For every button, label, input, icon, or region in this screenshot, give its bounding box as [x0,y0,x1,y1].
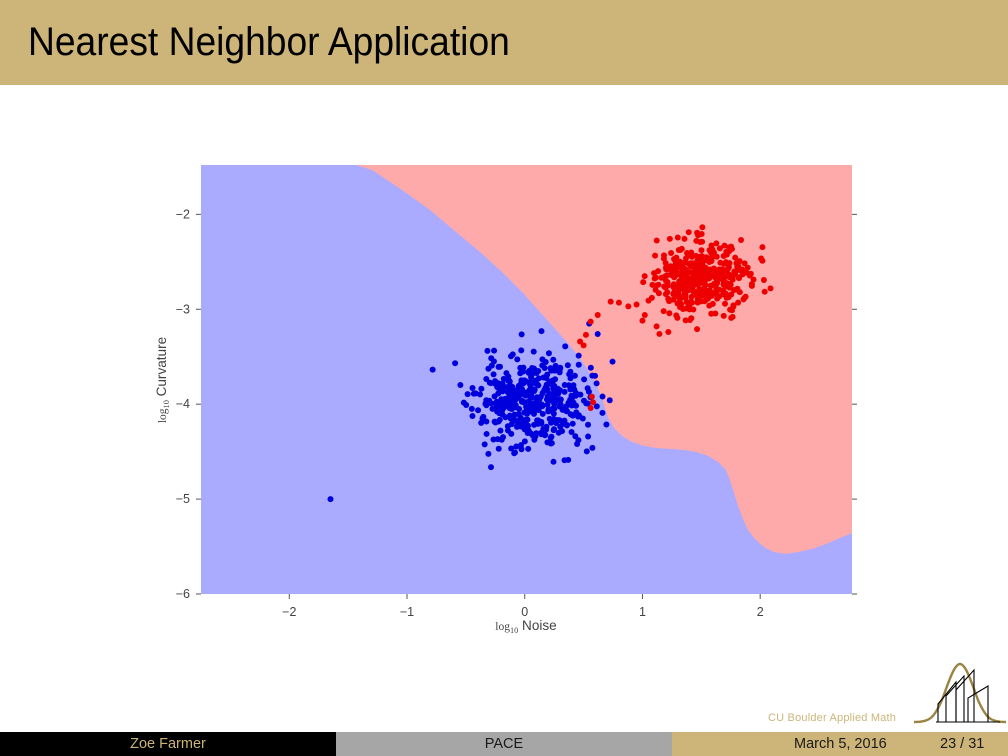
data-point [488,355,494,361]
slide-root: Nearest Neighbor Application −2−1012 [0,0,1008,756]
data-point [457,382,463,388]
data-point [761,277,767,283]
data-point [569,429,575,435]
data-point [565,362,571,368]
data-point [530,409,536,415]
data-point [666,298,672,304]
data-point [536,396,542,402]
footer-author: Zoe Farmer [0,732,336,756]
data-point [603,421,609,427]
x-axis-label: log10 Noise [495,618,556,635]
data-point [482,441,488,447]
data-point [712,311,718,317]
data-point [551,426,557,432]
data-point [684,299,690,305]
data-point [595,331,601,337]
data-point [514,356,520,362]
data-point [471,391,477,397]
data-point [706,275,712,281]
data-point [566,382,572,388]
x-tick-label: 1 [639,605,646,619]
data-point [683,276,689,282]
data-point [565,457,571,463]
data-point [576,353,582,359]
data-point [531,422,537,428]
data-point [699,231,705,237]
data-point [585,422,591,428]
y-tick-label: −2 [176,207,190,221]
data-point [557,404,563,410]
data-point [749,281,755,287]
data-point [583,332,589,338]
data-point [485,366,491,372]
data-point [707,291,713,297]
data-point [485,451,491,457]
data-point [463,402,469,408]
slide-footer: Zoe Farmer PACE March 5, 2016 23 / 31 [0,732,1008,756]
data-point [585,434,591,440]
data-point [762,289,768,295]
data-point [651,270,657,276]
data-point [469,413,475,419]
data-point [759,244,765,250]
data-point [687,306,693,312]
data-point [699,224,705,230]
data-point [550,406,556,412]
data-point [540,411,546,417]
data-point [518,347,524,353]
data-point [727,285,733,291]
data-point [686,229,692,235]
data-point [518,390,524,396]
x-axis-ticks [289,594,760,599]
data-point [653,283,659,289]
footer-right-section: March 5, 2016 23 / 31 [672,732,1008,756]
data-point [733,260,739,266]
data-point [683,271,689,277]
data-point [639,318,645,324]
data-point [652,253,658,259]
data-point [654,323,660,329]
data-point [697,239,703,245]
data-point [713,283,719,289]
data-point [727,274,733,280]
data-point [569,403,575,409]
data-point [568,375,574,381]
data-point [693,292,699,298]
data-point [488,464,494,470]
data-point [505,428,511,434]
footer-page-number: 23 / 31 [940,732,984,756]
data-point [661,308,667,314]
data-point [699,260,705,266]
data-point [500,434,506,440]
data-point [496,446,502,452]
data-point [513,443,519,449]
data-point [570,413,576,419]
data-point [549,440,555,446]
data-point [492,393,498,399]
data-point [673,255,679,261]
data-point [594,380,600,386]
data-point [642,312,648,318]
data-point [671,289,677,295]
data-point [712,271,718,277]
data-point [581,376,587,382]
data-point [491,348,497,354]
data-point [663,266,669,272]
data-point [538,401,544,407]
data-point [505,378,511,384]
data-point [588,365,594,371]
data-point [521,399,527,405]
slide-title-bar: Nearest Neighbor Application [0,0,1008,85]
data-point [610,359,616,365]
data-point [706,258,712,264]
data-point [540,429,546,435]
data-point [600,394,606,400]
data-point [496,404,502,410]
data-point [682,290,688,296]
data-point [738,237,744,243]
data-point [732,270,738,276]
x-tick-label: −1 [400,605,414,619]
data-point [727,260,733,266]
data-point [661,252,667,258]
data-point [663,260,669,266]
data-point [625,303,631,309]
data-point [616,300,622,306]
data-point [711,266,717,272]
data-point [721,275,727,281]
data-point [528,395,534,401]
data-point [562,343,568,349]
data-point [544,396,550,402]
data-point [574,441,580,447]
data-point [475,407,481,413]
gaussian-flatirons-icon [912,660,1008,724]
data-point [689,300,695,306]
data-point [522,438,528,444]
data-point [676,260,682,266]
data-point [722,301,728,307]
data-point [654,238,660,244]
data-point [469,406,475,412]
data-point [553,391,559,397]
data-point [758,255,764,261]
data-point [517,370,523,376]
data-point [548,434,554,440]
data-point [550,377,556,383]
data-point [548,365,554,371]
data-point [747,272,753,278]
data-point [534,381,540,387]
data-point [478,386,484,392]
footer-presentation-title: PACE [336,732,672,756]
data-point [490,437,496,443]
data-point [696,286,702,292]
data-point [538,419,544,425]
data-point [721,243,727,249]
data-point [588,405,594,411]
data-point [658,275,664,281]
data-point [557,366,563,372]
data-point [497,417,503,423]
decision-boundary-chart: −2−1012 −2−3−4−5−6 log10 Noise log10 Cur… [140,140,880,650]
data-point [740,296,746,302]
data-point [479,415,485,421]
data-point [484,431,490,437]
data-point [721,313,727,319]
data-point [528,402,534,408]
data-point [509,383,515,389]
data-point [567,397,573,403]
data-point [544,372,550,378]
data-point [675,235,681,241]
data-point [583,400,589,406]
y-axis-label: log10 Curvature [154,337,171,423]
data-point [688,263,694,269]
data-point [550,357,556,363]
data-point [717,260,723,266]
data-point [668,272,674,278]
data-point [693,253,699,259]
footer-date: March 5, 2016 [794,732,887,756]
y-axis-tick-labels: −2−3−4−5−6 [176,207,190,601]
data-point [745,265,751,271]
x-tick-label: 2 [757,605,764,619]
data-point [519,331,525,337]
data-point [685,252,691,258]
data-point [649,295,655,301]
data-point [497,381,503,387]
data-point [698,247,704,253]
data-point [521,409,527,415]
data-point [599,410,605,416]
data-point [607,397,613,403]
data-point [543,385,549,391]
data-point [714,276,720,282]
data-point [768,285,774,291]
data-point [592,373,598,379]
data-point [477,391,483,397]
data-point [702,298,708,304]
data-point [684,285,690,291]
page-title: Nearest Neighbor Application [28,20,510,65]
data-point [509,421,515,427]
data-point [484,348,490,354]
data-point [499,388,505,394]
data-point [688,315,694,321]
data-point [665,329,671,335]
data-point [483,397,489,403]
data-point [532,387,538,393]
x-axis-tick-labels: −2−1012 [282,605,764,619]
data-point [559,428,565,434]
scatter-plot-figure: −2−1012 −2−3−4−5−6 log10 Noise log10 Cur… [140,140,880,650]
data-point [667,236,673,242]
data-point [532,433,538,439]
data-point [576,362,582,368]
data-point [554,418,560,424]
data-point [666,310,672,316]
x-tick-label: 0 [521,605,528,619]
data-point [525,446,531,452]
data-point [673,271,679,277]
data-point [716,293,722,299]
data-point [595,312,601,318]
data-point [523,424,529,430]
data-point [497,428,503,434]
data-point [544,402,550,408]
data-point [535,368,541,374]
data-point [564,422,570,428]
data-point [543,424,549,430]
data-point [701,291,707,297]
data-point [589,394,595,400]
data-point [732,255,738,261]
data-point [327,496,333,502]
data-point [470,385,476,391]
data-point [573,391,579,397]
data-point [508,353,514,359]
data-point [690,269,696,275]
data-point [483,376,489,382]
data-point [570,421,576,427]
data-point [562,389,568,395]
data-point [656,331,662,337]
data-point [713,240,719,246]
data-point [678,301,684,307]
data-point [676,247,682,253]
data-point [488,380,494,386]
data-point [665,282,671,288]
y-tick-label: −6 [176,587,190,601]
data-point [526,368,532,374]
data-point [735,300,741,306]
y-tick-label: −5 [176,492,190,506]
data-point [590,399,596,405]
data-point [584,448,590,454]
data-point [694,326,700,332]
data-point [589,445,595,451]
data-point [500,397,506,403]
data-point [520,365,526,371]
data-point [683,317,689,323]
data-point [580,416,586,422]
logo-caption: CU Boulder Applied Math [768,712,896,724]
data-point [496,364,502,370]
data-point [567,369,573,375]
data-point [588,319,594,325]
data-point [538,328,544,334]
data-point [513,404,519,410]
data-point [706,303,712,309]
data-point [550,459,556,465]
data-point [452,360,458,366]
data-point [727,307,733,313]
data-point [465,391,471,397]
data-point [700,270,706,276]
data-point [711,250,717,256]
x-tick-label: −2 [282,605,296,619]
data-point [531,349,537,355]
data-point [430,367,436,373]
data-point [581,342,587,348]
data-point [689,281,695,287]
data-point [642,273,648,279]
data-point [543,359,549,365]
data-point [737,289,743,295]
y-tick-label: −3 [176,302,190,316]
data-point [728,315,734,321]
data-point [634,302,640,308]
data-point [726,294,732,300]
data-point [608,299,614,305]
data-point [546,350,552,356]
data-point [671,283,677,289]
data-point [640,279,646,285]
data-point [681,236,687,242]
data-point [527,382,533,388]
data-point [673,312,679,318]
data-point [491,371,497,377]
y-tick-label: −4 [176,397,190,411]
cu-boulder-logo: CU Boulder Applied Math [762,660,1008,732]
data-point [668,250,674,256]
